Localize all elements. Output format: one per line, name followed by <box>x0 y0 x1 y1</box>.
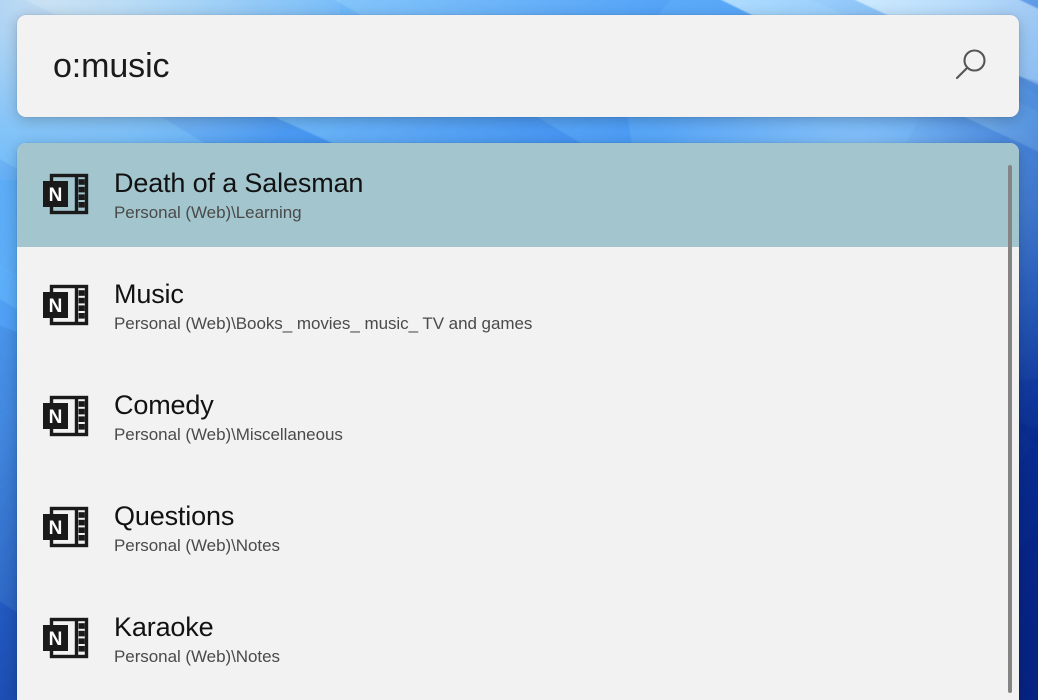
result-subtitle: Personal (Web)\Notes <box>114 647 1019 666</box>
result-subtitle: Personal (Web)\Learning <box>114 203 1019 222</box>
result-row[interactable]: N Karaoke Personal (Web)\Notes <box>17 587 1019 691</box>
result-title: Death of a Salesman <box>114 168 1019 198</box>
result-text: Death of a Salesman Personal (Web)\Learn… <box>114 168 1019 222</box>
onenote-icon: N <box>38 168 92 222</box>
onenote-icon: N <box>38 390 92 444</box>
result-subtitle: Personal (Web)\Books_ movies_ music_ TV … <box>114 314 1019 333</box>
result-text: Comedy Personal (Web)\Miscellaneous <box>114 390 1019 444</box>
search-icon[interactable] <box>943 39 997 93</box>
search-input[interactable]: o:music <box>53 49 943 83</box>
result-row[interactable]: N Comedy Personal (Web)\Miscellaneous <box>17 365 1019 469</box>
result-title: Questions <box>114 501 1019 531</box>
onenote-icon: N <box>38 279 92 333</box>
results-scrollbar-track[interactable] <box>1003 143 1017 700</box>
result-row[interactable]: N Music Personal (Web)\Books_ movies_ mu… <box>17 254 1019 358</box>
onenote-icon: N <box>38 612 92 666</box>
svg-text:N: N <box>49 185 63 206</box>
svg-text:N: N <box>49 296 63 317</box>
svg-text:N: N <box>49 407 63 428</box>
onenote-icon: N <box>38 501 92 555</box>
result-title: Music <box>114 279 1019 309</box>
result-subtitle: Personal (Web)\Notes <box>114 536 1019 555</box>
results-scrollbar-thumb[interactable] <box>1008 165 1012 693</box>
svg-text:N: N <box>49 629 63 650</box>
result-text: Karaoke Personal (Web)\Notes <box>114 612 1019 666</box>
result-text: Music Personal (Web)\Books_ movies_ musi… <box>114 279 1019 333</box>
search-bar[interactable]: o:music <box>17 15 1019 117</box>
search-results-list: N Death of a Salesman Personal (Web)\Lea… <box>17 143 1019 700</box>
result-text: Questions Personal (Web)\Notes <box>114 501 1019 555</box>
search-results-panel: N Death of a Salesman Personal (Web)\Lea… <box>17 143 1019 700</box>
result-row[interactable]: N Questions Personal (Web)\Notes <box>17 476 1019 580</box>
result-row[interactable]: N Death of a Salesman Personal (Web)\Lea… <box>17 143 1019 247</box>
result-title: Karaoke <box>114 612 1019 642</box>
result-title: Comedy <box>114 390 1019 420</box>
svg-text:N: N <box>49 518 63 539</box>
result-subtitle: Personal (Web)\Miscellaneous <box>114 425 1019 444</box>
